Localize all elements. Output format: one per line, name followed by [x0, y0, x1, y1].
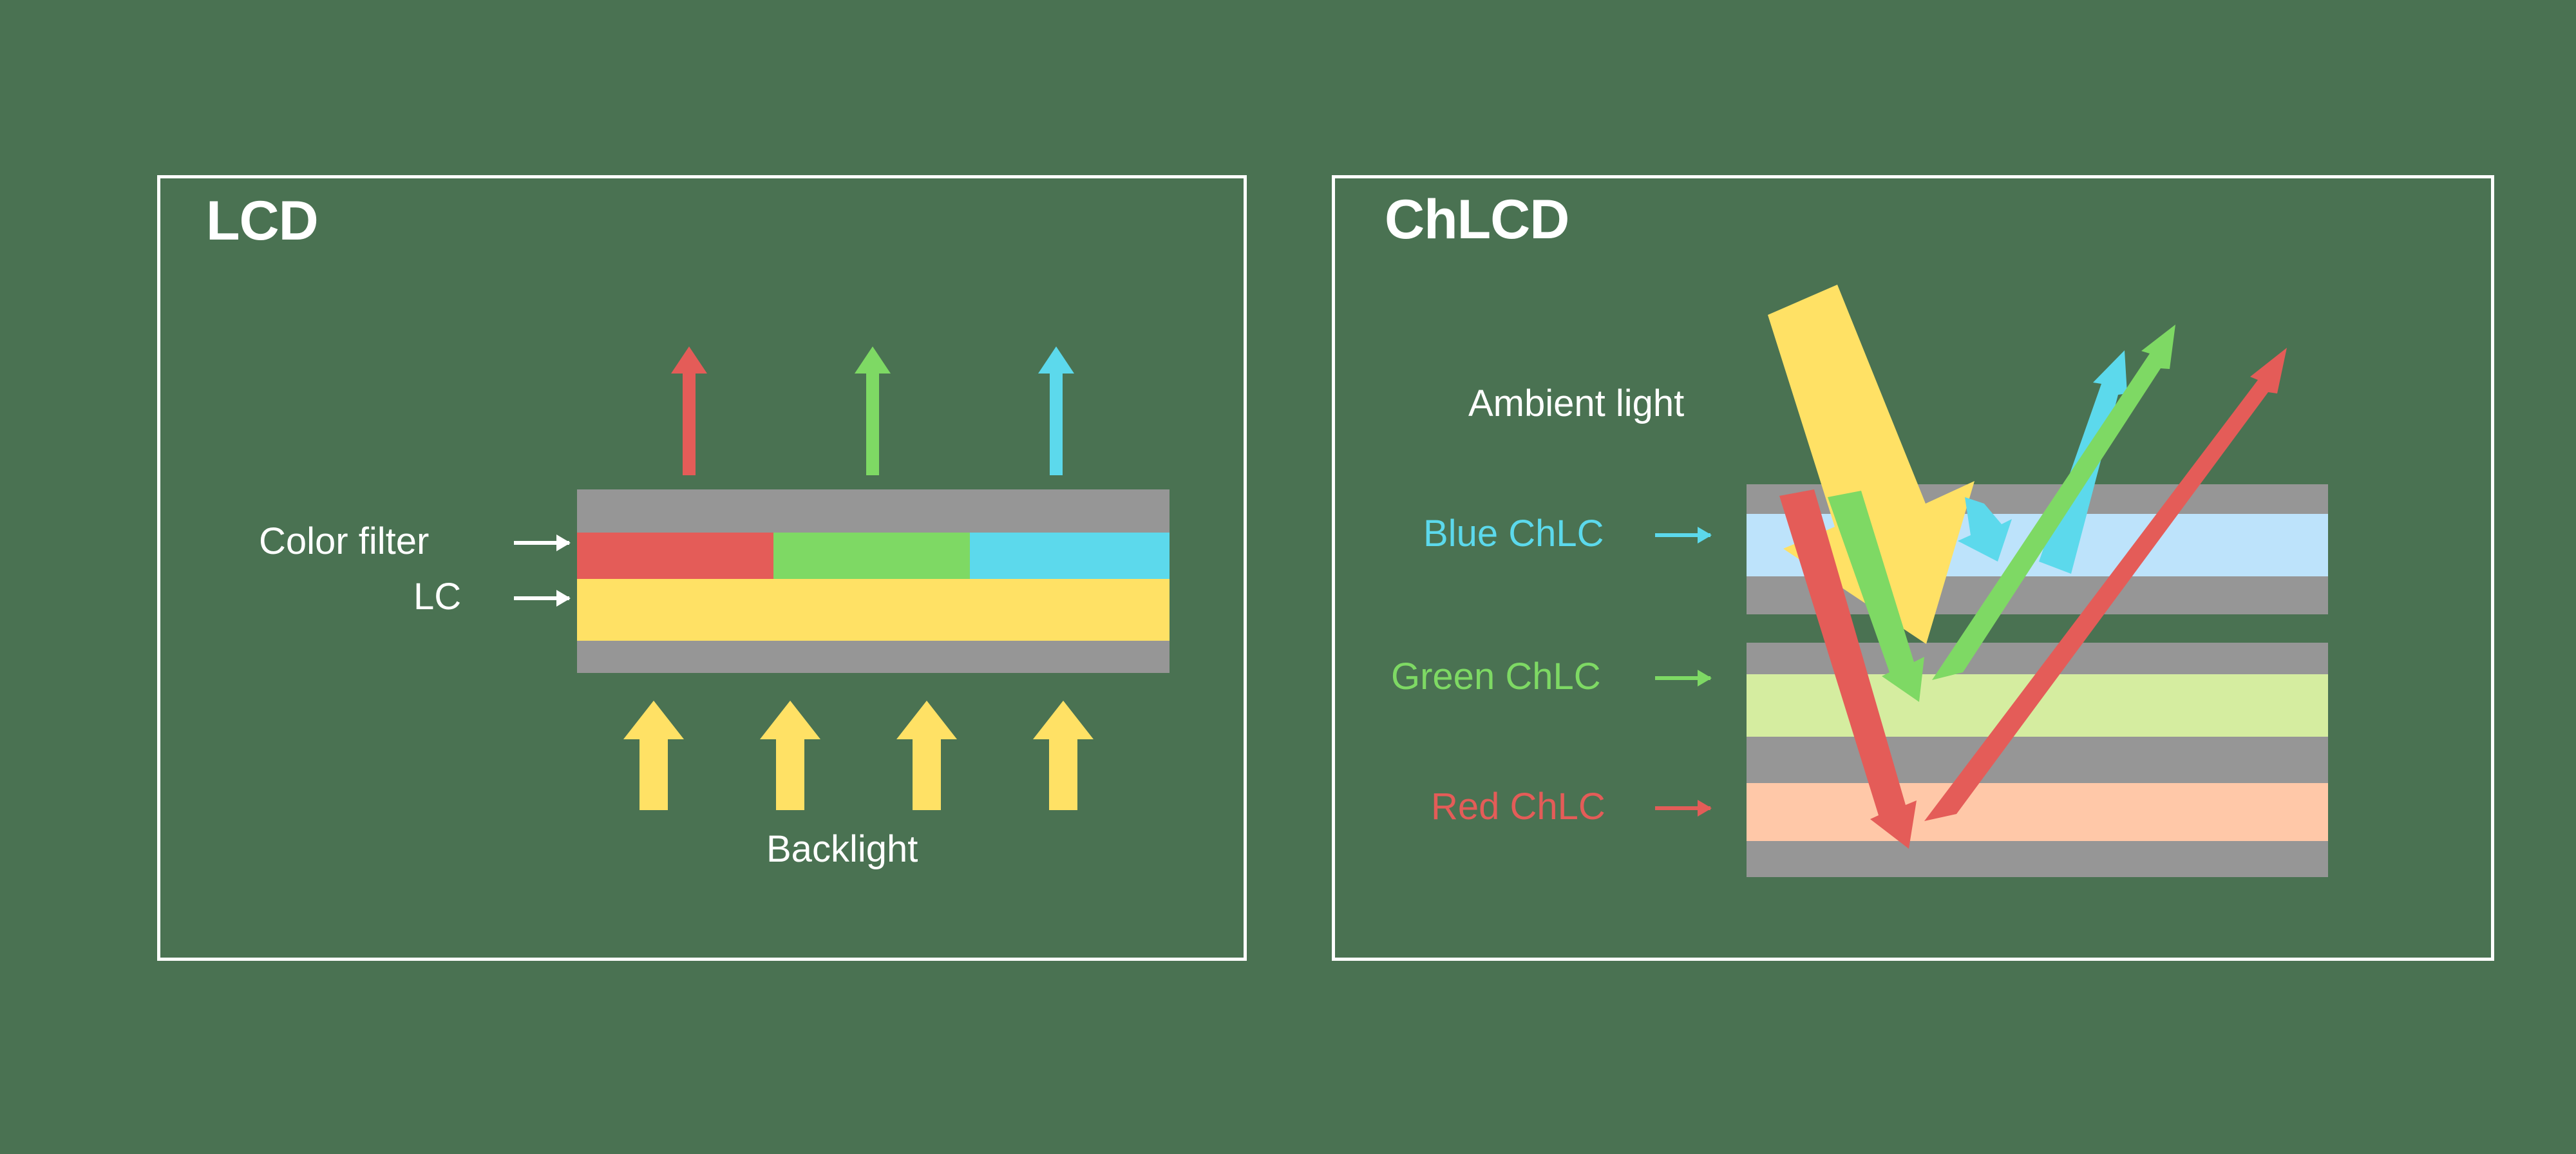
green-output-arrow [855, 346, 891, 475]
color-filter-label: Color filter [259, 523, 429, 560]
backlight-arrow-1 [623, 701, 684, 810]
ambient-light-label: Ambient light [1468, 385, 1684, 422]
lc-lead-line [514, 596, 569, 600]
blue-output-arrow [1038, 346, 1074, 475]
red-output-arrow [671, 346, 707, 475]
red-chlc-group [1747, 753, 2328, 877]
chlcd-panel-title: ChLCD [1385, 192, 1569, 247]
color-filter-blue-cell [970, 533, 1170, 579]
blue-chlc-label: Blue ChLC [1423, 515, 1604, 553]
lcd-top-electrode [577, 489, 1170, 533]
color-filter-red-cell [577, 533, 773, 579]
blue-group-top-electrode [1747, 484, 2328, 514]
diagram-canvas: LCD Color filter LC [0, 0, 2576, 1154]
green-chlc-label: Green ChLC [1391, 658, 1601, 695]
color-filter-green-cell [773, 533, 970, 579]
backlight-label: Backlight [766, 831, 918, 868]
red-chlc-layer [1747, 783, 2328, 841]
blue-chlc-group [1747, 484, 2328, 614]
lcd-panel-title: LCD [206, 193, 318, 249]
blue-chlc-layer [1747, 514, 2328, 576]
lcd-layer-stack [577, 489, 1170, 673]
blue-group-bottom-electrode [1747, 576, 2328, 614]
lcd-bottom-electrode [577, 641, 1170, 673]
lcd-liquid-crystal-layer [577, 579, 1170, 641]
red-chlc-label: Red ChLC [1431, 788, 1605, 826]
green-group-top-electrode [1747, 643, 2328, 674]
green-chlc-lead-line [1655, 676, 1710, 680]
color-filter-lead-line [514, 541, 569, 545]
backlight-arrow-4 [1033, 701, 1094, 810]
backlight-arrow-2 [760, 701, 820, 810]
red-chlc-lead-line [1655, 806, 1710, 810]
green-chlc-layer [1747, 674, 2328, 737]
red-group-bottom-electrode [1747, 841, 2328, 877]
lcd-color-filter-layer [577, 533, 1170, 579]
lc-label: LC [413, 578, 461, 616]
red-group-top-electrode [1747, 753, 2328, 783]
blue-chlc-lead-line [1655, 533, 1710, 537]
backlight-arrow-3 [896, 701, 957, 810]
